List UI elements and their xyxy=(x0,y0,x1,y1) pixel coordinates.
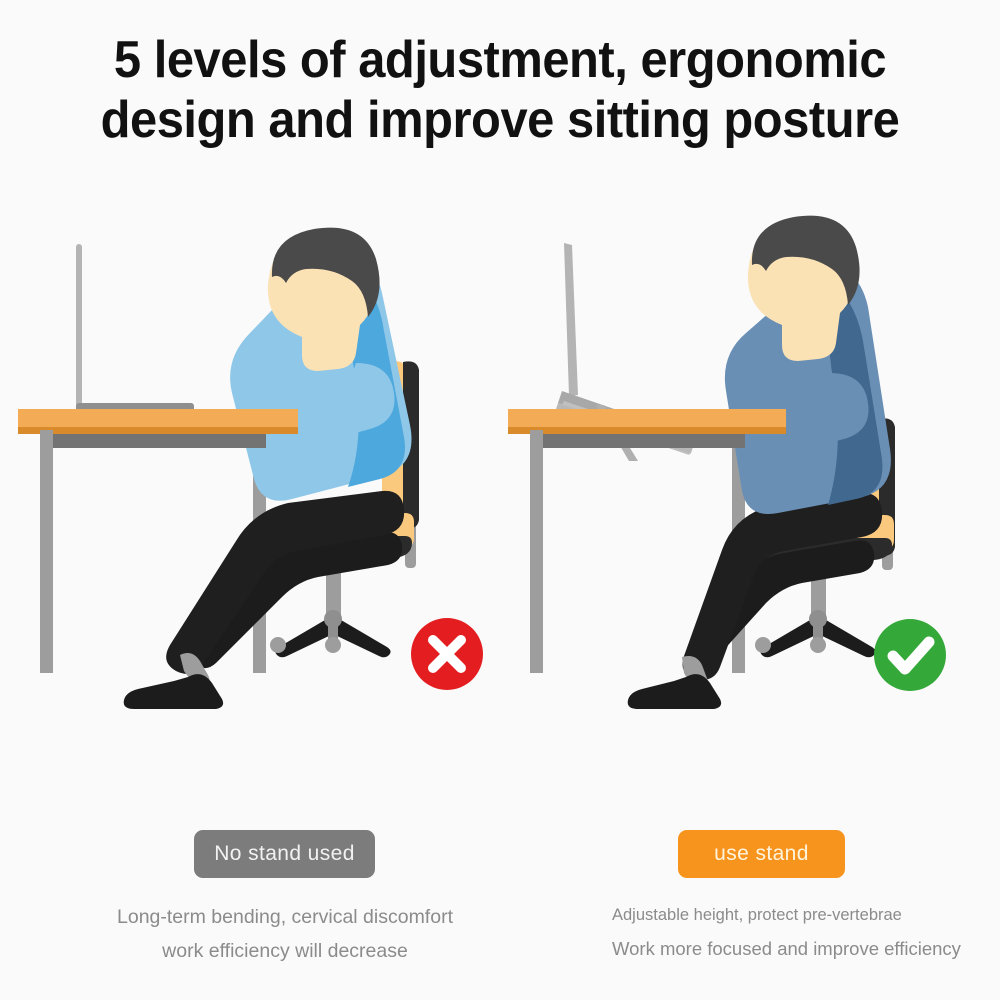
illustration-use-stand xyxy=(500,215,990,715)
ergonomics-infographic: 5 levels of adjustment, ergonomic design… xyxy=(0,0,1000,1000)
chair-caster-left xyxy=(270,637,286,653)
caption-no-stand: Long-term bending, cervical discomfort w… xyxy=(45,900,525,968)
check-circle-icon xyxy=(874,619,946,691)
cross-circle-icon xyxy=(411,618,483,690)
page-title: 5 levels of adjustment, ergonomic design… xyxy=(30,30,970,150)
desk-leg-front xyxy=(530,430,543,673)
desk-top xyxy=(508,409,786,427)
chair-caster-left xyxy=(755,637,771,653)
chair-caster-center xyxy=(325,637,341,653)
caption-use-stand-line-2: Work more focused and improve efficiency xyxy=(612,937,1000,961)
caption-no-stand-line-1: Long-term bending, cervical discomfort xyxy=(45,900,525,934)
badge-use-stand[interactable]: use stand xyxy=(678,830,845,878)
illustration-no-stand xyxy=(10,215,500,715)
page-title-line-2: design and improve sitting posture xyxy=(30,90,970,150)
desk-top-edge xyxy=(18,427,298,434)
chair-caster-center xyxy=(810,637,826,653)
caption-use-stand-line-1: Adjustable height, protect pre-vertebrae xyxy=(612,902,1000,928)
caption-no-stand-line-2: work efficiency will decrease xyxy=(45,934,525,968)
person-shoe xyxy=(124,674,223,709)
page-title-line-1: 5 levels of adjustment, ergonomic xyxy=(30,30,970,90)
laptop-screen xyxy=(564,243,578,396)
desk-top-edge xyxy=(508,427,786,434)
desk-leg-front xyxy=(40,430,53,673)
desk-top xyxy=(18,409,298,427)
caption-use-stand: Adjustable height, protect pre-vertebrae… xyxy=(612,902,1000,961)
laptop-screen xyxy=(76,244,82,410)
badge-no-stand-used[interactable]: No stand used xyxy=(194,830,375,878)
